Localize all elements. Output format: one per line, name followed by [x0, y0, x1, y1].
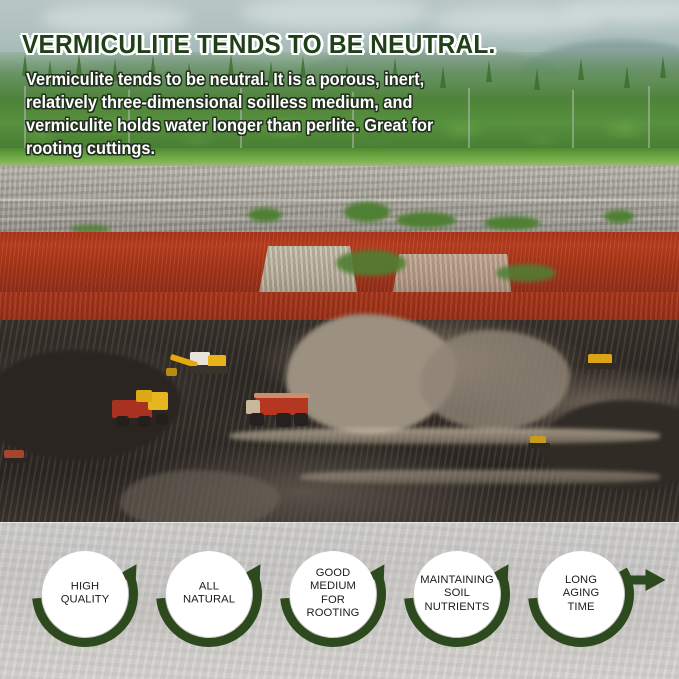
scrub-bush [344, 202, 390, 222]
truck-left [4, 450, 32, 464]
excavator-bucket [166, 368, 177, 376]
conifer-tip [660, 56, 666, 78]
scrub-bush [484, 216, 540, 230]
pale-rock-patch [120, 470, 280, 530]
conifer-tip [486, 60, 492, 82]
utility-pole [648, 86, 650, 150]
small-truck-wheels [6, 458, 28, 463]
scrub-bush [496, 264, 556, 282]
conifer-tip [534, 68, 540, 90]
dump-truck-1 [112, 390, 178, 430]
loader-wheels [528, 443, 550, 448]
pit-floor-overburden [0, 320, 679, 530]
page-title: VERMICULITE TENDS TO BE NEUTRAL. [22, 31, 496, 60]
flow-node-high-quality[interactable] [42, 551, 128, 637]
truck-wheel [138, 416, 151, 427]
utility-pole [468, 88, 470, 150]
truck-wheel [156, 414, 168, 425]
truck-wheel [276, 413, 291, 427]
flow-svg [0, 522, 679, 679]
flow-node-good-medium[interactable] [290, 551, 376, 637]
scrub-bush [396, 212, 456, 228]
conifer-tip [578, 58, 584, 80]
truck-cab [246, 400, 260, 414]
dozer-right [584, 354, 618, 370]
truck-wheel [294, 413, 308, 426]
truck-bed [256, 395, 308, 415]
excavator [168, 352, 228, 380]
truck-wheel [116, 416, 129, 427]
loader-far [528, 436, 550, 448]
haul-road [300, 470, 660, 484]
dozer-tracks [584, 363, 618, 369]
flow-node-long-aging[interactable] [538, 551, 624, 637]
scrub-bush [604, 210, 634, 223]
cloud-shape [40, 4, 190, 34]
excavator-tracks [190, 366, 228, 374]
small-truck-body [4, 450, 24, 458]
truck-hood [136, 390, 152, 402]
red-laterite-bench [0, 232, 679, 298]
description-text: Vermiculite tends to be neutral. It is a… [26, 68, 463, 160]
truck-wheel [250, 413, 264, 426]
vermiculite-infographic-poster: VERMICULITE TENDS TO BE NEUTRAL. Vermicu… [0, 0, 679, 679]
conifer-tip [624, 66, 630, 88]
terrace-edge-line [0, 218, 679, 220]
flow-arrow-head-long-aging [646, 569, 666, 591]
flow-node-soil-nutrients[interactable] [414, 551, 500, 637]
cloud-shape [240, 0, 430, 30]
scrub-bush [336, 250, 406, 276]
terrace-edge-line [0, 199, 679, 201]
process-flow-diagram [0, 522, 679, 679]
gravel-terrace [0, 166, 679, 238]
scrub-bush [248, 208, 282, 222]
flow-node-all-natural[interactable] [166, 551, 252, 637]
benefits-panel: HIGH QUALITYALL NATURALGOOD MEDIUM FOR R… [0, 522, 679, 679]
pale-rock-patch [420, 330, 570, 430]
utility-pole [572, 90, 574, 150]
dump-truck-2 [246, 392, 312, 432]
truck-bed-rim [254, 393, 310, 398]
